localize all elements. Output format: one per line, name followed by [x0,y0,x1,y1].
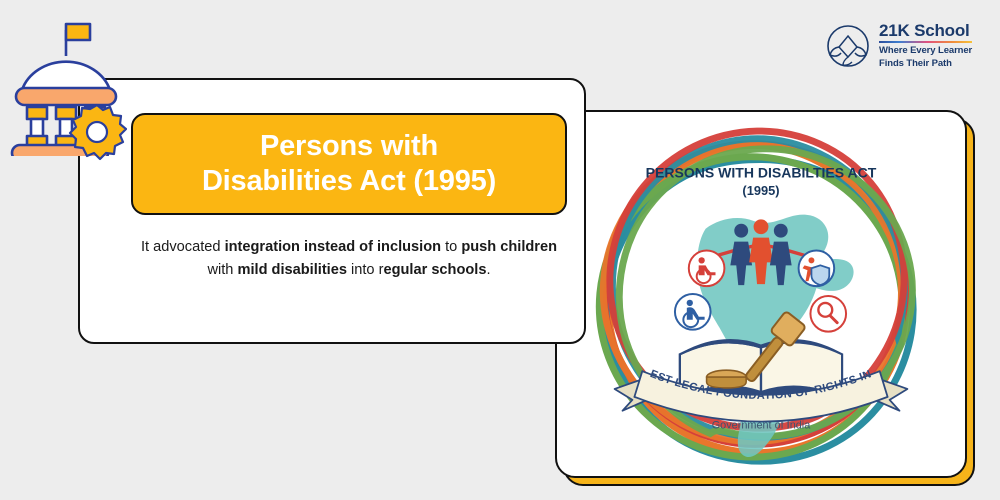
body-text: to [441,239,461,255]
page-title: Persons with Disabilities Act (1995) [202,129,496,200]
disability-shield-icon [799,250,835,286]
brand-tagline: Where Every Learner Finds Their Path [879,45,972,70]
title-line-1: Persons with [260,130,438,162]
emblem-heading: PERSONS WITH DISABILTIES ACT [646,164,877,180]
title-banner: Persons with Disabilities Act (1995) [131,113,567,215]
government-building-decor [4,16,132,156]
brand-tagline-line-1: Where Every Learner [879,45,972,56]
body-paragraph: It advocated integration instead of incl… [135,236,563,282]
emblem-card: PERSONS WITH DISABILTIES ACT (1995) [555,110,967,478]
emblem-footer: Government of India [712,420,811,432]
gear-icon [67,101,127,161]
body-text: It advocated [141,239,225,255]
disability-act-emblem: PERSONS WITH DISABILTIES ACT (1995) [557,112,965,476]
body-emphasis: push children [461,239,557,255]
magnifier-icon [810,296,846,332]
wheelchair-access-icon [689,250,725,286]
brand-logo: 21K School Where Every Learner Finds The… [826,22,972,70]
brand-name: 21K School [879,22,972,40]
body-text: with [207,262,237,278]
body-text: . [486,262,490,278]
brand-name-wrap: 21K School [879,22,972,43]
wheelchair-sport-icon [675,294,711,330]
emblem-year: (1995) [742,183,779,198]
body-emphasis: integration instead of inclusion [225,239,441,255]
body-emphasis: egular schools [383,262,486,278]
brand-underline [879,41,972,44]
body-emphasis: mild disabilities [237,262,346,278]
lotus-circle-icon [826,24,870,68]
body-text: into r [347,262,384,278]
brand-tagline-line-2: Finds Their Path [879,58,952,69]
title-line-2: Disabilities Act (1995) [202,165,496,197]
